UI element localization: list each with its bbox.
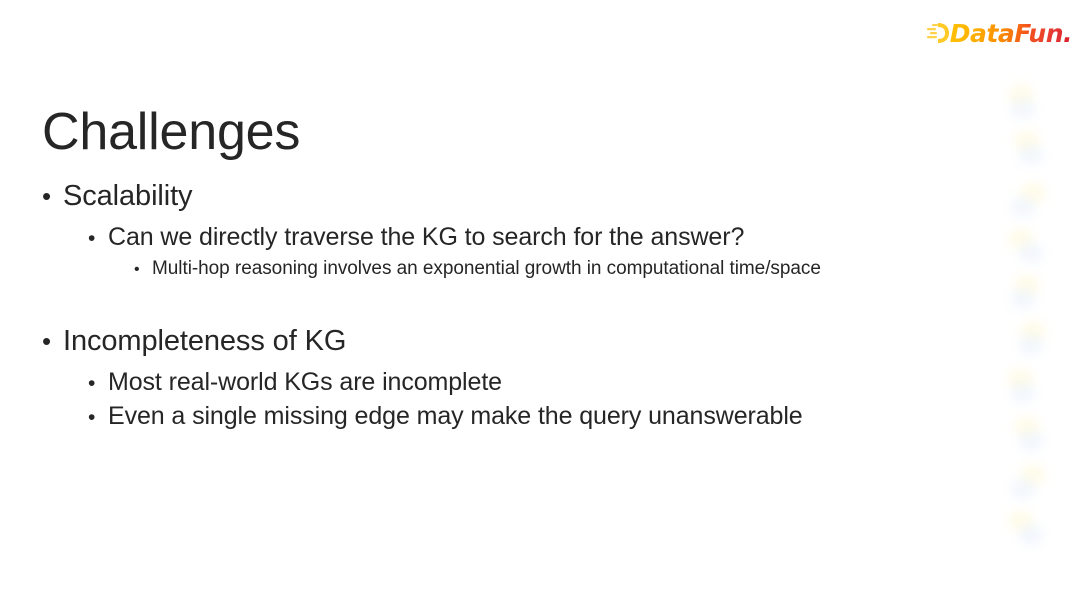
bullet-marker-icon: • — [134, 262, 152, 278]
slide-body: • Scalability • Can we directly traverse… — [0, 178, 1040, 435]
watermark-speckle — [1018, 524, 1044, 546]
bullet-marker-icon: • — [42, 328, 63, 354]
watermark-speckle — [1008, 510, 1034, 532]
bullet-level2: • Can we directly traverse the KG to sea… — [0, 221, 1040, 254]
bullet-level1-text: Scalability — [63, 178, 192, 215]
bullet-level2-text: Even a single missing edge may make the … — [108, 400, 803, 433]
bullet-marker-icon: • — [88, 228, 108, 249]
bullet-level1: • Incompleteness of KG — [0, 323, 1040, 360]
bullet-level1-text: Incompleteness of KG — [63, 323, 346, 360]
datafun-logo: DataFun. — [927, 16, 1072, 50]
bullet-marker-icon: • — [42, 183, 63, 209]
bullet-level2: • Even a single missing edge may make th… — [0, 400, 1040, 433]
watermark-speckle — [1020, 464, 1046, 486]
bullet-level2: • Most real-world KGs are incomplete — [0, 366, 1040, 399]
bullet-level1: • Scalability — [0, 178, 1040, 215]
watermark-speckle — [1018, 144, 1044, 166]
slide-canvas: DataFun. Challenges • Scalability • Can … — [0, 0, 1080, 607]
speed-lines-icon — [927, 21, 949, 45]
bullet-level2-text: Can we directly traverse the KG to searc… — [108, 221, 744, 254]
watermark-speckle — [1014, 130, 1040, 152]
bullet-level2-text: Most real-world KGs are incomplete — [108, 366, 502, 399]
bullet-marker-icon: • — [88, 407, 108, 428]
bullet-level3-text: Multi-hop reasoning involves an exponent… — [152, 256, 821, 281]
bullet-level3: • Multi-hop reasoning involves an expone… — [0, 256, 1040, 281]
bullet-group: • Incompleteness of KG • Most real-world… — [0, 323, 1040, 433]
brand-name: DataFun. — [950, 21, 1072, 46]
watermark-speckle — [1008, 84, 1034, 106]
watermark-speckle — [1010, 98, 1036, 120]
page-title: Challenges — [42, 103, 300, 161]
bullet-marker-icon: • — [88, 373, 108, 394]
bullet-group: • Scalability • Can we directly traverse… — [0, 178, 1040, 281]
watermark-speckle — [1010, 478, 1036, 500]
